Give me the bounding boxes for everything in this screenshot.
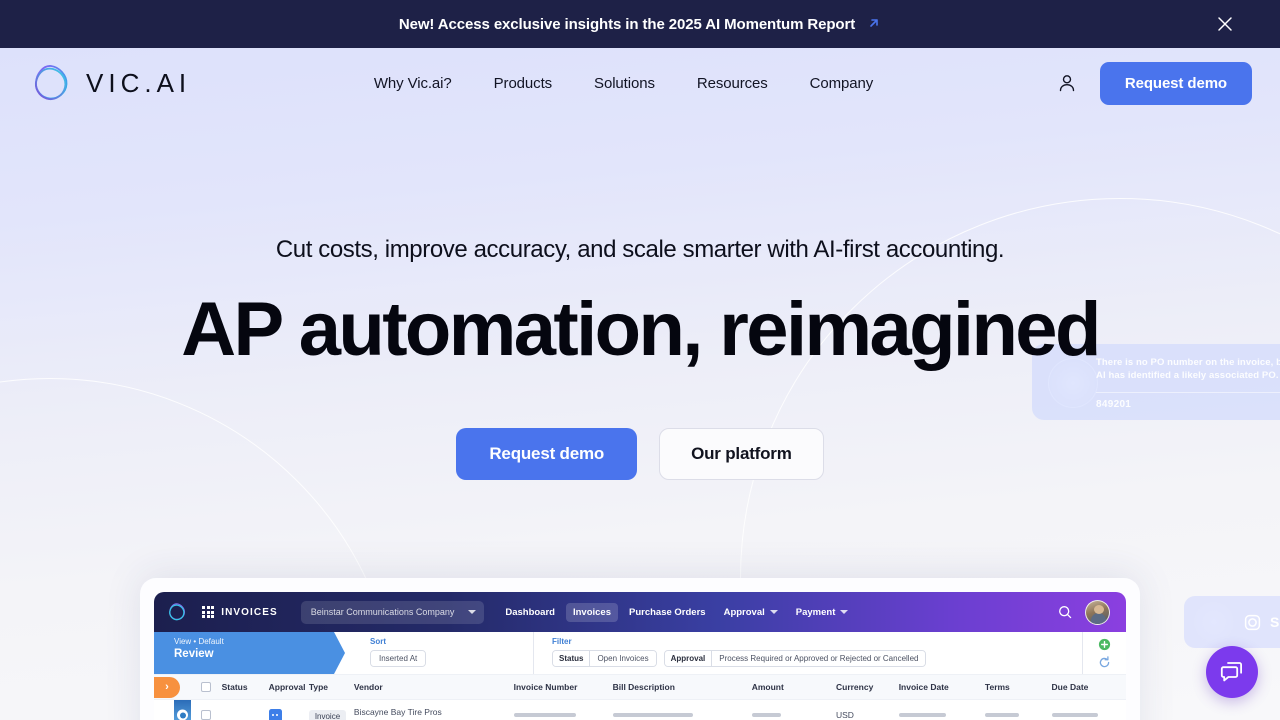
chevron-down-icon: [770, 610, 778, 614]
refresh-icon[interactable]: [1098, 656, 1111, 669]
column-header-invoice-number[interactable]: Invoice Number: [514, 682, 613, 692]
app-topbar-actions: [1058, 600, 1114, 625]
row-status-marker: [174, 700, 191, 720]
approval-badge: [269, 709, 282, 720]
capture-icon: [1244, 614, 1261, 631]
product-screenshot-frame: INVOICES Beinstar Communications Company…: [140, 578, 1140, 720]
filter-chip-status[interactable]: Status Open Invoices: [552, 650, 657, 667]
nav-request-demo-button[interactable]: Request demo: [1100, 62, 1252, 105]
cell-type: Invoice: [309, 706, 354, 720]
close-icon[interactable]: [1214, 13, 1236, 35]
add-circle-icon[interactable]: [1098, 638, 1111, 651]
announcement-text: New! Access exclusive insights in the 20…: [399, 16, 855, 33]
redacted-value: [985, 713, 1019, 718]
select-all-checkbox[interactable]: [201, 682, 211, 692]
main-navigation: VIC.AI Why Vic.ai? Products Solutions Re…: [0, 48, 1280, 118]
hero-section: VIC.AI Why Vic.ai? Products Solutions Re…: [0, 48, 1280, 720]
org-selector[interactable]: Beinstar Communications Company: [301, 601, 485, 624]
page-title: AP automation, reimagined: [0, 290, 1280, 370]
cell-approval: [269, 709, 309, 720]
nav-links: Why Vic.ai? Products Solutions Resources…: [191, 75, 1056, 92]
column-header-due-date[interactable]: Due Date: [1052, 682, 1126, 692]
redacted-value: [514, 713, 576, 718]
filter-section: Filter Status Open Invoices Approval Pro…: [533, 632, 1082, 674]
app-module-label: INVOICES: [221, 607, 278, 618]
column-header-invoice-date[interactable]: Invoice Date: [899, 682, 985, 692]
column-header-status[interactable]: Status: [222, 682, 269, 692]
column-header-bill-description[interactable]: Bill Description: [613, 682, 752, 692]
filter-chip-status-key: Status: [553, 651, 590, 666]
column-header-amount[interactable]: Amount: [752, 682, 836, 692]
hero-request-demo-button[interactable]: Request demo: [456, 428, 637, 480]
cell-due-date: [1052, 713, 1126, 718]
nav-link-solutions[interactable]: Solutions: [594, 75, 655, 92]
cell-bill-description: [613, 713, 752, 718]
hero-copy: Cut costs, improve accuracy, and scale s…: [0, 118, 1280, 480]
app-nav-invoices[interactable]: Invoices: [566, 603, 618, 622]
sort-section: Sort Inserted At: [352, 632, 527, 674]
column-header-vendor[interactable]: Vendor: [354, 682, 514, 692]
redacted-value: [613, 713, 693, 718]
view-selector[interactable]: View • Default Review: [154, 632, 334, 674]
cell-currency: USD: [836, 710, 899, 720]
arrow-up-right-icon[interactable]: [867, 16, 881, 33]
search-icon[interactable]: [1058, 605, 1072, 619]
row-checkbox-cell: [190, 710, 221, 720]
filter-chip-approval[interactable]: Approval Process Required or Approved or…: [664, 650, 927, 667]
filter-title: Filter: [552, 637, 1082, 646]
site-logo[interactable]: VIC.AI: [28, 60, 191, 106]
capture-label: S: [1270, 614, 1279, 630]
cell-vendor: Biscayne Bay Tire Pros: [354, 707, 514, 720]
invoice-table: › Status Approval Type Vendor Invoice Nu…: [154, 674, 1126, 720]
cell-amount: [752, 713, 836, 718]
hero-cta-row: Request demo Our platform: [0, 428, 1280, 480]
redacted-value: [1052, 713, 1098, 718]
column-header-type[interactable]: Type: [309, 682, 354, 692]
app-nav-approval-label: Approval: [724, 607, 765, 618]
announcement-content[interactable]: New! Access exclusive insights in the 20…: [399, 16, 881, 33]
vic-ai-logo-icon: [28, 60, 74, 106]
filter-chips: Status Open Invoices Approval Process Re…: [552, 650, 1082, 667]
filter-actions: [1082, 632, 1126, 674]
app-nav-approval[interactable]: Approval: [717, 603, 785, 622]
nav-link-resources[interactable]: Resources: [697, 75, 768, 92]
sort-chips: Inserted At: [370, 650, 527, 667]
row-checkbox[interactable]: [201, 710, 211, 720]
hero-our-platform-button[interactable]: Our platform: [659, 428, 824, 480]
cell-invoice-date: [899, 713, 985, 718]
sort-chip-value: Inserted At: [371, 651, 425, 666]
view-selector-label: View • Default: [174, 637, 334, 646]
table-header-row: › Status Approval Type Vendor Invoice Nu…: [154, 674, 1126, 700]
row-status-dot: [177, 710, 188, 720]
app-nav-payment-label: Payment: [796, 607, 836, 618]
view-selector-name: Review: [174, 648, 334, 660]
redacted-value: [899, 713, 946, 718]
cell-invoice-number: [514, 713, 613, 718]
nav-link-company[interactable]: Company: [810, 75, 874, 92]
chevron-down-icon: [468, 610, 476, 614]
nav-actions: Request demo: [1056, 62, 1252, 105]
app-nav-purchase-orders[interactable]: Purchase Orders: [622, 603, 713, 622]
table-row[interactable]: Invoice Biscayne Bay Tire Pros USD: [154, 700, 1126, 720]
app-nav: Dashboard Invoices Purchase Orders Appro…: [498, 603, 855, 622]
org-selector-label: Beinstar Communications Company: [311, 607, 455, 617]
select-all-checkbox-cell: [190, 682, 221, 692]
app-nav-dashboard[interactable]: Dashboard: [498, 603, 562, 622]
app-filter-bar: View • Default Review Sort Inserted At F…: [154, 632, 1126, 674]
capture-card: S: [1184, 596, 1280, 648]
avatar[interactable]: [1085, 600, 1110, 625]
chevron-down-icon: [840, 610, 848, 614]
nav-link-why-vicai[interactable]: Why Vic.ai?: [374, 75, 452, 92]
chat-bubbles-icon: [1219, 659, 1245, 685]
logo-wordmark: VIC.AI: [86, 68, 191, 99]
filter-chip-status-value: Open Invoices: [590, 651, 655, 666]
sort-chip-inserted-at[interactable]: Inserted At: [370, 650, 426, 667]
filter-chip-approval-value: Process Required or Approved or Rejected…: [712, 651, 925, 666]
redacted-value: [752, 713, 781, 718]
app-nav-payment[interactable]: Payment: [789, 603, 856, 622]
column-header-terms[interactable]: Terms: [985, 682, 1052, 692]
product-screenshot: INVOICES Beinstar Communications Company…: [154, 592, 1126, 720]
hero-eyebrow: Cut costs, improve accuracy, and scale s…: [0, 236, 1280, 264]
cell-terms: [985, 713, 1052, 718]
vic-ai-logo-icon: [166, 601, 188, 623]
column-header-approval[interactable]: Approval: [269, 682, 309, 692]
user-icon[interactable]: [1056, 72, 1078, 94]
nav-link-products[interactable]: Products: [494, 75, 552, 92]
chevron-right-icon[interactable]: ›: [154, 677, 180, 698]
type-tag: Invoice: [309, 710, 346, 720]
filter-chip-approval-key: Approval: [665, 651, 713, 666]
app-topbar: INVOICES Beinstar Communications Company…: [154, 592, 1126, 632]
announcement-bar: New! Access exclusive insights in the 20…: [0, 0, 1280, 48]
column-header-currency[interactable]: Currency: [836, 682, 899, 692]
chat-widget-button[interactable]: [1206, 646, 1258, 698]
app-grid-icon[interactable]: [202, 606, 214, 618]
sort-title: Sort: [370, 637, 527, 646]
vendor-name: Biscayne Bay Tire Pros: [354, 707, 514, 717]
